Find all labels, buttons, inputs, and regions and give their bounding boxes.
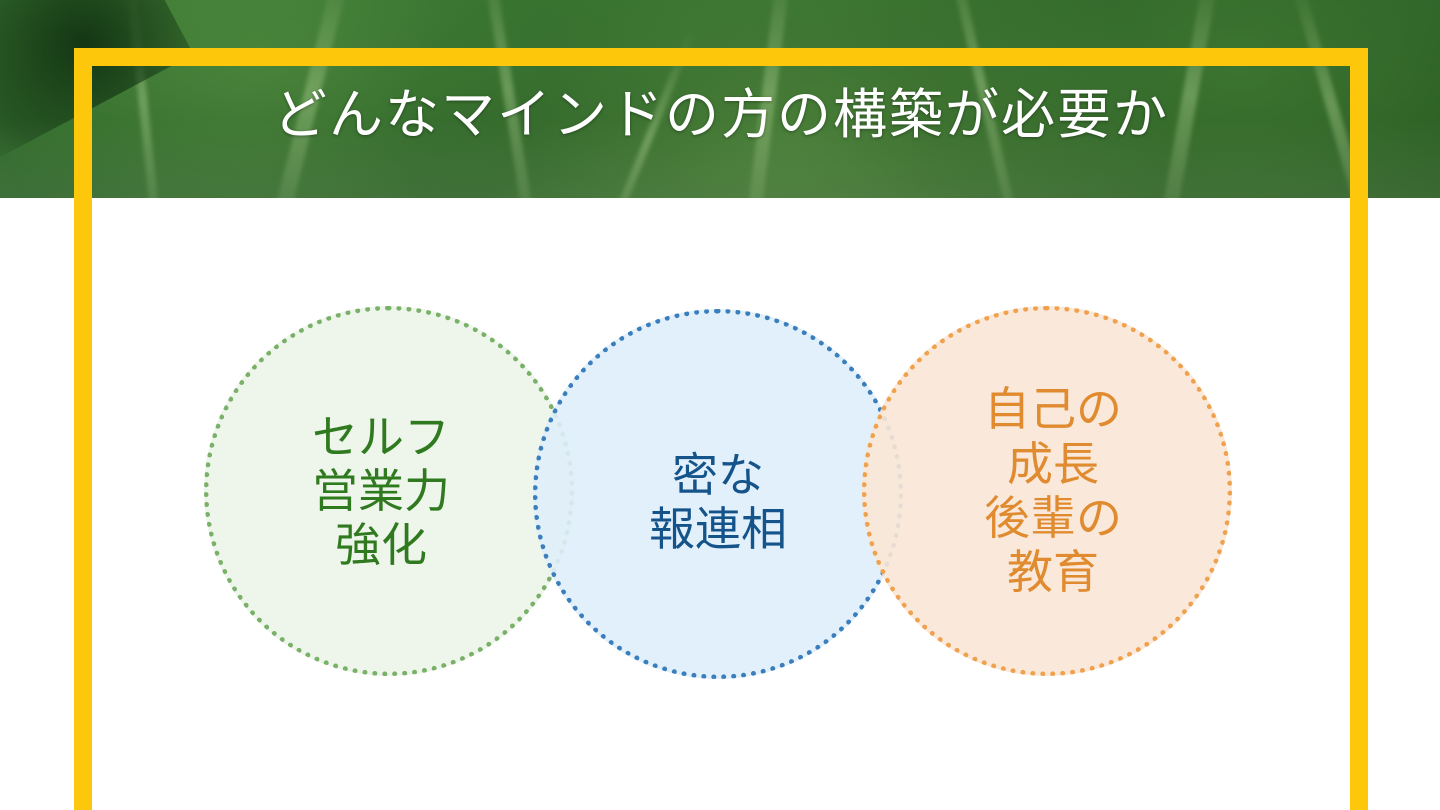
venn-circle-label: 密な 報連相 [649,448,787,557]
venn-circle-self-growth-mentoring[interactable]: 自己の 成長 後輩の 教育 [862,306,1232,676]
venn-circle-label: セルフ 営業力 強化 [312,410,450,573]
venn-circle-close-reporting[interactable]: 密な 報連相 [533,309,903,679]
venn-circle-label: 自己の 成長 後輩の 教育 [984,382,1122,599]
presentation-slide: どんなマインドの方の構築が必要か セルフ 営業力 強化 密な 報連相 自己の 成… [0,0,1440,810]
venn-circle-self-sales-strength[interactable]: セルフ 営業力 強化 [204,306,574,676]
venn-diagram: セルフ 営業力 強化 密な 報連相 自己の 成長 後輩の 教育 [0,0,1440,810]
